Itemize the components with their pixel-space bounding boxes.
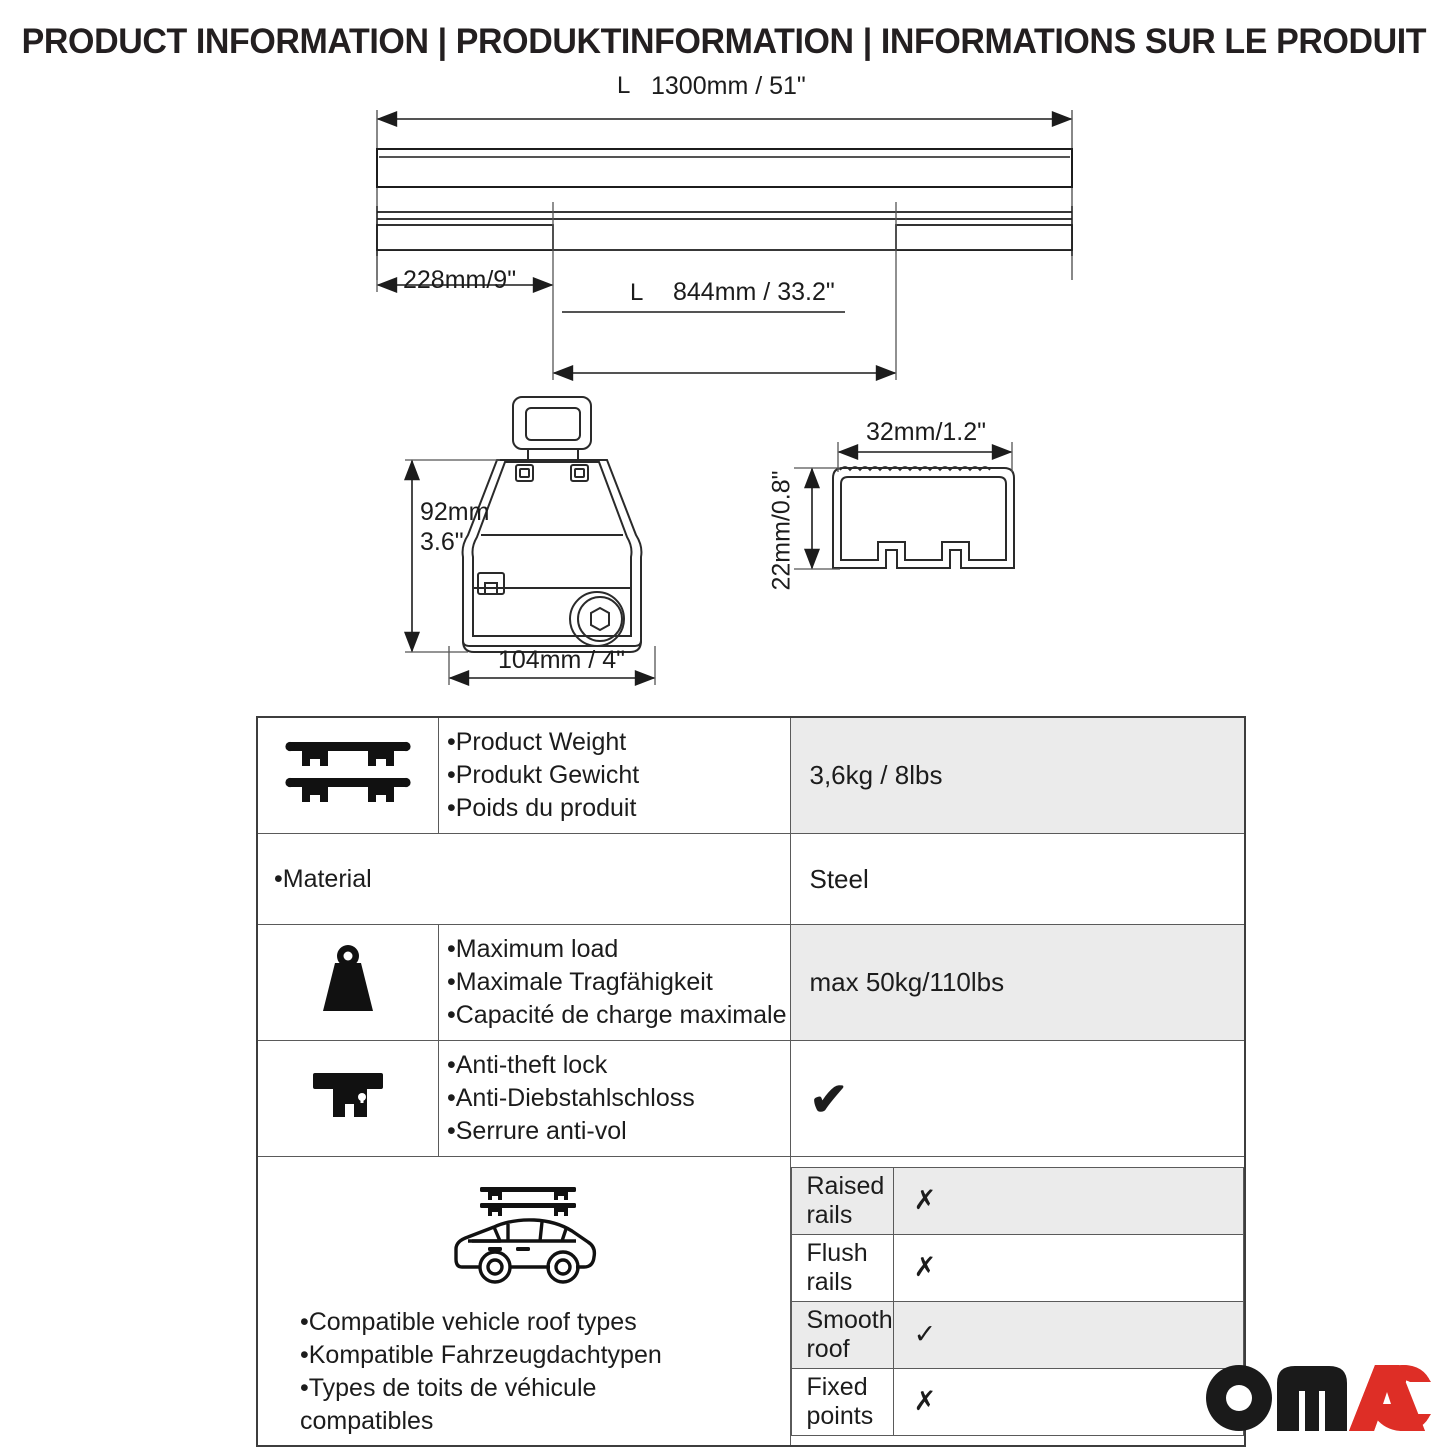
roof-type-mark: ✗ bbox=[893, 1167, 1243, 1234]
bar-top-view bbox=[377, 206, 1072, 256]
roof-type-mark: ✓ bbox=[893, 1301, 1243, 1368]
label-line: •Anti-theft lock bbox=[447, 1049, 786, 1082]
label-line: •Compatible vehicle roof types bbox=[300, 1306, 786, 1339]
dim-base-width-label: 104mm / 4" bbox=[498, 646, 625, 675]
label-line: •Serrure anti-vol bbox=[447, 1115, 786, 1148]
row-value-product-weight: 3,6kg / 8lbs bbox=[791, 717, 1245, 834]
table-row: •Anti-theft lock •Anti-Diebstahlschloss … bbox=[257, 1041, 1245, 1157]
row-label-compatible-roof-types: •Compatible vehicle roof types •Kompatib… bbox=[257, 1157, 791, 1447]
label-line: •Product Weight bbox=[447, 726, 786, 759]
row-value-anti-theft-lock: ✔ bbox=[791, 1041, 1245, 1157]
roof-type-label: Flush rails bbox=[792, 1234, 893, 1301]
dim-total-label: 1300mm / 51" bbox=[651, 72, 806, 101]
label-line: •Types de toits de véhicule bbox=[300, 1372, 786, 1405]
roof-type-row: Flush rails ✗ bbox=[792, 1234, 1244, 1301]
dim-span-label: 844mm / 33.2" bbox=[673, 278, 835, 307]
roof-type-mark: ✗ bbox=[893, 1368, 1243, 1435]
page-title: PRODUCT INFORMATION | PRODUKTINFORMATION… bbox=[22, 22, 1424, 62]
label-line: •Maximale Tragfähigkeit bbox=[447, 966, 786, 999]
profile-cross-section bbox=[833, 467, 1014, 568]
roof-type-row: Fixed points ✗ bbox=[792, 1368, 1244, 1435]
technical-drawing: L 1300mm / 51" 228mm/9" L 844mm / 33.2" … bbox=[0, 80, 1445, 700]
dim-end-label: 228mm/9" bbox=[403, 266, 516, 295]
table-row: •Material Steel bbox=[257, 834, 1245, 925]
row-label-product-weight: •Product Weight •Produkt Gewicht •Poids … bbox=[439, 717, 791, 834]
roof-type-label: Fixed points bbox=[792, 1368, 893, 1435]
roof-type-label: Smooth roof bbox=[792, 1301, 893, 1368]
dim-profile-height-label: 22mm/0.8" bbox=[768, 470, 797, 590]
roof-type-label: Raised rails bbox=[792, 1167, 893, 1234]
label-line: •Anti-Diebstahlschloss bbox=[447, 1082, 786, 1115]
omac-logo bbox=[1203, 1361, 1433, 1435]
row-value-material: Steel bbox=[791, 834, 1245, 925]
dim-height-in-label: 3.6" bbox=[420, 528, 489, 558]
row-label-anti-theft-lock: •Anti-theft lock •Anti-Diebstahlschloss … bbox=[439, 1041, 791, 1157]
dim-total-prefix-label: L bbox=[617, 72, 630, 100]
roof-type-mark: ✗ bbox=[893, 1234, 1243, 1301]
label-line: •Poids du produit bbox=[447, 792, 786, 825]
label-line: •Produkt Gewicht bbox=[447, 759, 786, 792]
table-row: •Compatible vehicle roof types •Kompatib… bbox=[257, 1157, 1245, 1447]
dim-profile-width-label: 32mm/1.2" bbox=[866, 418, 986, 447]
table-row: •Maximum load •Maximale Tragfähigkeit •C… bbox=[257, 925, 1245, 1041]
dim-height-mm-label: 92mm bbox=[420, 498, 489, 528]
car-with-rack-icon bbox=[258, 1165, 790, 1296]
label-line: •Material bbox=[274, 863, 786, 896]
label-line: •Capacité de charge maximale bbox=[447, 999, 786, 1032]
compat-label-list: •Compatible vehicle roof types •Kompatib… bbox=[258, 1296, 790, 1438]
specification-table: •Product Weight •Produkt Gewicht •Poids … bbox=[256, 716, 1246, 1447]
lock-icon bbox=[257, 1041, 439, 1157]
bar-side-view bbox=[377, 149, 1072, 187]
label-line: •Kompatible Fahrzeugdachtypen bbox=[300, 1339, 786, 1372]
dim-span-prefix-label: L bbox=[630, 279, 643, 307]
row-label-max-load: •Maximum load •Maximale Tragfähigkeit •C… bbox=[439, 925, 791, 1041]
row-label-material: •Material bbox=[257, 834, 791, 925]
table-row: •Product Weight •Produkt Gewicht •Poids … bbox=[257, 717, 1245, 834]
logo-om-part bbox=[1206, 1365, 1347, 1431]
weight-icon bbox=[257, 925, 439, 1041]
roof-types-subtable: Raised rails ✗ Flush rails ✗ Smooth roof… bbox=[791, 1157, 1245, 1447]
roof-type-row: Smooth roof ✓ bbox=[792, 1301, 1244, 1368]
label-line: compatibles bbox=[300, 1405, 786, 1438]
crossbars-icon bbox=[257, 717, 439, 834]
roof-type-row: Raised rails ✗ bbox=[792, 1167, 1244, 1234]
label-line: •Maximum load bbox=[447, 933, 786, 966]
row-value-max-load: max 50kg/110lbs bbox=[791, 925, 1245, 1041]
